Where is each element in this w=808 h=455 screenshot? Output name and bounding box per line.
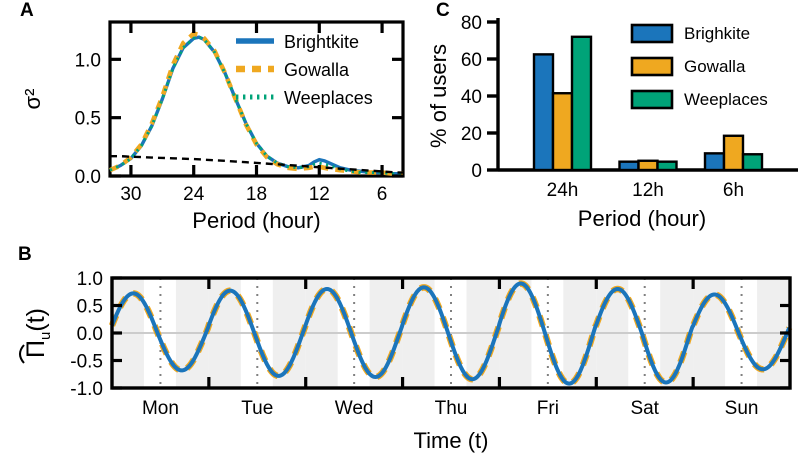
panel-b-xaxis-title: Time (t): [414, 428, 489, 453]
panel-c-bar-weeplaces-6h: [743, 154, 762, 170]
panel-c-xtick-label: 24h: [547, 180, 579, 201]
panel-a-xtick-label: 18: [246, 184, 267, 205]
panel-c-label: C: [436, 0, 450, 22]
panel-c-ytick-label: 40: [461, 87, 482, 108]
panel-b-xtick-label: Tue: [241, 398, 273, 419]
panel-c-legend-swatch-gowalla: [632, 58, 672, 75]
panel-b-xtick-label: Sat: [630, 398, 659, 419]
panel-b-xtick-label: Mon: [142, 398, 179, 419]
panel-c-bar-gowalla-24h: [553, 93, 572, 170]
panel-c-bar-brighkite-24h: [534, 54, 553, 170]
panel-c-bar-brighkite-6h: [705, 153, 724, 170]
panel-b: B 1.00.50.0-0.5-1.0MonTueWedThuFriSatSun…: [0, 240, 808, 455]
panel-a-legend-label-gowalla: Gowalla: [284, 60, 350, 80]
panel-b-ytick-label: -1.0: [70, 379, 103, 400]
panel-a-xaxis-title: Period (hour): [192, 208, 320, 233]
panel-c-bar-gowalla-12h: [639, 161, 658, 170]
panel-a-xtick-label: 30: [120, 184, 141, 205]
panel-a-ytick-label: 0.5: [75, 109, 101, 130]
panel-b-xtick-label: Wed: [335, 398, 374, 419]
panel-c-bar-gowalla-6h: [724, 136, 743, 170]
panel-a-ytick-label: 1.0: [75, 50, 101, 71]
panel-a: A 0.00.51.0302418126Period (hour)σ²Brigh…: [0, 0, 420, 225]
panel-c-bar-brighkite-12h: [620, 162, 639, 170]
panel-a-xtick-label: 6: [377, 184, 388, 205]
panel-c-plot: 02040608024h12h6hPeriod (hour)% of users…: [420, 0, 808, 228]
panel-c-legend-label-weeplaces: Weeplaces: [684, 90, 768, 109]
panel-c-ytick-label: 20: [461, 124, 482, 145]
panel-c-xtick-label: 6h: [723, 180, 744, 201]
panel-c-legend-swatch-brighkite: [632, 25, 672, 42]
panel-c-xaxis-title: Period (hour): [578, 206, 706, 231]
panel-b-ytick-label: -0.5: [70, 352, 103, 373]
panel-b-xtick-label: Sun: [725, 398, 759, 419]
panel-c-ytick-label: 0: [471, 161, 482, 182]
panel-c-legend-label-gowalla: Gowalla: [684, 57, 746, 76]
panel-c-ytick-label: 80: [461, 13, 482, 34]
panel-c-xtick-label: 12h: [632, 180, 664, 201]
panel-c-bar-weeplaces-24h: [572, 37, 591, 170]
panel-c-legend-label-brighkite: Brighkite: [684, 24, 750, 43]
panel-b-plot: 1.00.50.0-0.5-1.0MonTueWedThuFriSatSunTi…: [0, 240, 808, 455]
panel-a-xtick-label: 12: [309, 184, 330, 205]
panel-a-legend-label-brightkite: Brightkite: [284, 32, 359, 52]
panel-a-xtick-label: 24: [183, 184, 205, 205]
panel-c-ytick-label: 60: [461, 50, 482, 71]
panel-b-yaxis-title-text: Πu(t): [22, 308, 54, 358]
panel-b-xtick-label: Fri: [537, 398, 559, 419]
panel-a-legend-label-weeplaces: Weeplaces: [284, 88, 373, 108]
panel-c-legend-swatch-weeplaces: [632, 91, 672, 108]
panel-a-plot: 0.00.51.0302418126Period (hour)σ²Brightk…: [0, 0, 420, 225]
panel-c-bar-weeplaces-12h: [658, 162, 677, 170]
panel-a-label: A: [20, 0, 34, 22]
panel-c: C 02040608024h12h6hPeriod (hour)% of use…: [420, 0, 808, 228]
panel-b-ytick-label: 0.0: [77, 324, 103, 345]
panel-b-label: B: [18, 244, 32, 266]
panel-a-yaxis-title: σ²: [20, 89, 45, 110]
panel-b-xtick-label: Thu: [435, 398, 468, 419]
panel-a-ytick-label: 0.0: [75, 167, 101, 188]
panel-b-ytick-label: 1.0: [77, 269, 103, 290]
panel-b-ytick-label: 0.5: [77, 297, 103, 318]
panel-b-yaxis-title: Πu(t): [20, 308, 54, 363]
panel-c-yaxis-title: % of users: [426, 44, 451, 148]
